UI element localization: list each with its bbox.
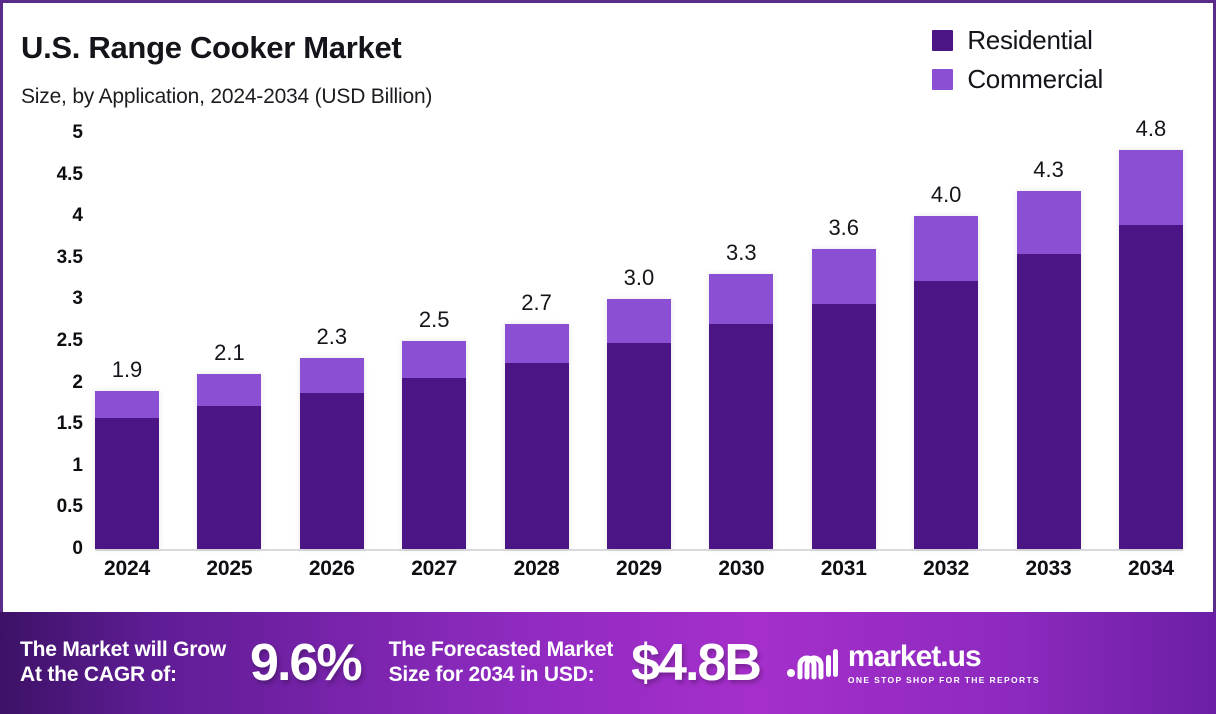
bar-column[interactable]: 3.0 bbox=[607, 133, 671, 549]
x-axis-label: 2029 bbox=[607, 557, 671, 581]
bar-segment-commercial[interactable] bbox=[709, 274, 773, 324]
bar-data-label: 3.0 bbox=[624, 265, 655, 291]
legend-item-label: Commercial bbox=[967, 64, 1103, 95]
bar-data-label: 4.3 bbox=[1033, 157, 1064, 183]
x-axis-label: 2026 bbox=[300, 557, 364, 581]
bar-column[interactable]: 4.0 bbox=[914, 133, 978, 549]
bar-data-label: 2.7 bbox=[521, 290, 552, 316]
y-axis-tick: 2 bbox=[31, 372, 83, 394]
bar-segment-residential[interactable] bbox=[1017, 254, 1081, 549]
cagr-value: 9.6% bbox=[250, 633, 361, 693]
bar-segment-commercial[interactable] bbox=[812, 249, 876, 303]
bar-column[interactable]: 4.8 bbox=[1119, 133, 1183, 549]
bar-data-label: 4.0 bbox=[931, 182, 962, 208]
x-axis-label: 2024 bbox=[95, 557, 159, 581]
chart-legend: ResidentialCommercial bbox=[932, 25, 1103, 95]
bar-segment-commercial[interactable] bbox=[914, 216, 978, 281]
summary-banner: The Market will Grow At the CAGR of: 9.6… bbox=[0, 612, 1216, 714]
bar-column[interactable]: 4.3 bbox=[1017, 133, 1081, 549]
chart-plot-area: 00.511.522.533.544.55 1.92.12.32.52.73.0… bbox=[3, 133, 1216, 598]
x-axis-labels: 2024202520262027202820292030203120322033… bbox=[95, 557, 1183, 581]
bar-data-label: 2.3 bbox=[316, 324, 347, 350]
bar-data-label: 2.1 bbox=[214, 340, 245, 366]
bar-segment-commercial[interactable] bbox=[300, 358, 364, 393]
x-axis-label: 2031 bbox=[812, 557, 876, 581]
x-axis-label: 2034 bbox=[1119, 557, 1183, 581]
bar-data-label: 3.6 bbox=[828, 215, 859, 241]
bar-column[interactable]: 3.3 bbox=[709, 133, 773, 549]
chart-infographic: U.S. Range Cooker Market Size, by Applic… bbox=[0, 0, 1216, 714]
chart-subtitle: Size, by Application, 2024-2034 (USD Bil… bbox=[21, 85, 432, 109]
bar-column[interactable]: 1.9 bbox=[95, 133, 159, 549]
bar-stack[interactable] bbox=[300, 358, 364, 549]
bar-stack[interactable] bbox=[914, 216, 978, 549]
bar-segment-commercial[interactable] bbox=[607, 299, 671, 342]
bar-column[interactable]: 2.3 bbox=[300, 133, 364, 549]
bar-column[interactable]: 2.1 bbox=[197, 133, 261, 549]
bar-segment-commercial[interactable] bbox=[95, 391, 159, 418]
x-axis-label: 2028 bbox=[505, 557, 569, 581]
cagr-caption: The Market will Grow At the CAGR of: bbox=[20, 638, 226, 688]
bar-segment-commercial[interactable] bbox=[1017, 191, 1081, 254]
page-title: U.S. Range Cooker Market bbox=[21, 30, 401, 66]
bar-segment-residential[interactable] bbox=[300, 393, 364, 549]
bar-data-label: 3.3 bbox=[726, 240, 757, 266]
bar-segment-residential[interactable] bbox=[197, 406, 261, 549]
legend-item-label: Residential bbox=[967, 25, 1092, 56]
bar-segment-residential[interactable] bbox=[812, 304, 876, 549]
bar-segment-residential[interactable] bbox=[95, 418, 159, 549]
y-axis-tick: 3.5 bbox=[31, 247, 83, 269]
bar-stack[interactable] bbox=[812, 249, 876, 549]
logo-wordmark: market.us bbox=[848, 642, 1040, 672]
bar-data-label: 4.8 bbox=[1136, 116, 1167, 142]
bar-segment-residential[interactable] bbox=[607, 343, 671, 549]
forecast-size-caption: The Forecasted Market Size for 2034 in U… bbox=[389, 638, 614, 688]
bar-data-label: 2.5 bbox=[419, 307, 450, 333]
y-axis-tick: 1.5 bbox=[31, 413, 83, 435]
x-axis-label: 2030 bbox=[709, 557, 773, 581]
x-axis-label: 2027 bbox=[402, 557, 466, 581]
bar-segment-residential[interactable] bbox=[1119, 225, 1183, 549]
bar-segment-commercial[interactable] bbox=[505, 324, 569, 362]
bar-segment-residential[interactable] bbox=[914, 281, 978, 549]
bar-stack[interactable] bbox=[95, 391, 159, 549]
y-axis-tick: 4.5 bbox=[31, 164, 83, 186]
logo-tagline: ONE STOP SHOP FOR THE REPORTS bbox=[848, 675, 1040, 685]
legend-swatch-icon bbox=[932, 69, 953, 90]
bar-column[interactable]: 2.5 bbox=[402, 133, 466, 549]
y-axis-tick: 0.5 bbox=[31, 496, 83, 518]
bar-stack[interactable] bbox=[607, 299, 671, 549]
x-axis-label: 2032 bbox=[914, 557, 978, 581]
bar-segment-residential[interactable] bbox=[402, 378, 466, 549]
y-axis-tick: 4 bbox=[31, 205, 83, 227]
x-axis-label: 2025 bbox=[197, 557, 261, 581]
legend-swatch-icon bbox=[932, 30, 953, 51]
y-axis-tick: 5 bbox=[31, 122, 83, 144]
bar-column[interactable]: 3.6 bbox=[812, 133, 876, 549]
logo-text: market.us ONE STOP SHOP FOR THE REPORTS bbox=[848, 642, 1040, 685]
bar-series-group: 1.92.12.32.52.73.03.33.64.04.34.8 bbox=[95, 133, 1183, 549]
bar-stack[interactable] bbox=[197, 374, 261, 549]
y-axis-tick: 1 bbox=[31, 455, 83, 477]
bar-column[interactable]: 2.7 bbox=[505, 133, 569, 549]
legend-item-commercial[interactable]: Commercial bbox=[932, 64, 1103, 95]
market-us-logo[interactable]: market.us ONE STOP SHOP FOR THE REPORTS bbox=[786, 642, 1040, 685]
bar-stack[interactable] bbox=[402, 341, 466, 549]
y-axis-tick: 0 bbox=[31, 538, 83, 560]
bar-data-label: 1.9 bbox=[112, 357, 143, 383]
y-axis: 00.511.522.533.544.55 bbox=[31, 133, 83, 556]
forecast-size-value: $4.8B bbox=[631, 633, 760, 693]
y-axis-tick: 3 bbox=[31, 288, 83, 310]
bar-segment-commercial[interactable] bbox=[197, 374, 261, 406]
logo-mark-icon bbox=[786, 643, 838, 683]
x-axis-line bbox=[95, 549, 1183, 551]
legend-item-residential[interactable]: Residential bbox=[932, 25, 1103, 56]
bar-stack[interactable] bbox=[1119, 150, 1183, 549]
bar-segment-commercial[interactable] bbox=[1119, 150, 1183, 225]
bar-segment-commercial[interactable] bbox=[402, 341, 466, 378]
bar-segment-residential[interactable] bbox=[505, 363, 569, 549]
bar-segment-residential[interactable] bbox=[709, 324, 773, 549]
y-axis-tick: 2.5 bbox=[31, 330, 83, 352]
bar-stack[interactable] bbox=[709, 274, 773, 549]
x-axis-label: 2033 bbox=[1017, 557, 1081, 581]
bar-stack[interactable] bbox=[505, 324, 569, 549]
bar-stack[interactable] bbox=[1017, 191, 1081, 549]
